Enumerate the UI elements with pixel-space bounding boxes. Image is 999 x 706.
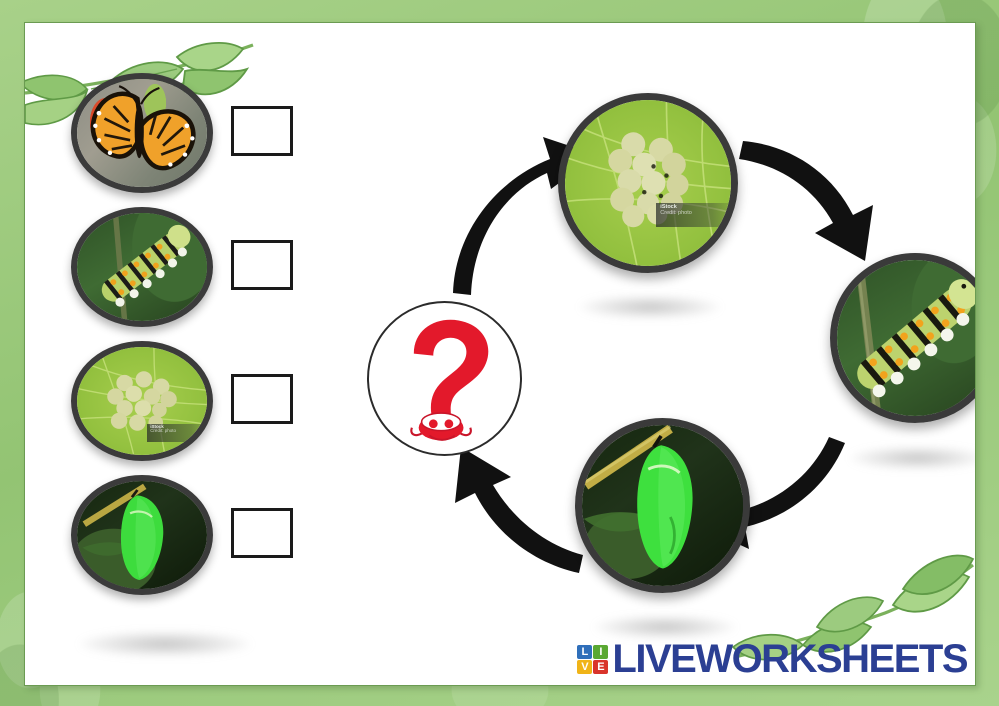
live-cell-v: V: [577, 660, 592, 674]
monarch-butterfly-photo: [71, 73, 213, 193]
chrysalis-shadow: [595, 615, 735, 639]
list-item: iStock Credit: photo: [53, 341, 343, 475]
left-column-shadow: [80, 631, 250, 657]
cycle-stage-caterpillar: [830, 253, 976, 423]
cycle-stage-eggs: iStock Credit: photo: [558, 93, 738, 273]
list-item: [53, 73, 343, 207]
answer-input-caterpillar[interactable]: [231, 240, 293, 290]
liveworksheets-wordmark: LIVEWORKSHEETS: [612, 639, 967, 679]
worksheet-sheet: iStock Credit: photo: [24, 22, 976, 686]
arrow-to-caterpillar-icon: [739, 141, 873, 261]
answer-input-butterfly[interactable]: [231, 106, 293, 156]
image-watermark: iStock Credit: photo: [147, 424, 210, 442]
live-cell-l: L: [577, 645, 592, 659]
image-watermark: iStock Credit: photo: [656, 203, 737, 227]
butterfly-life-cycle-diagram: iStock Credit: photo: [345, 63, 975, 633]
green-chrysalis-photo: [71, 475, 213, 595]
list-item: [53, 475, 343, 609]
liveworksheets-logo: L I V E LIVEWORKSHEETS: [577, 639, 967, 679]
live-logo-grid: L I V E: [577, 645, 608, 674]
question-mark-circle: [367, 301, 522, 456]
butterfly-eggs-on-leaf-photo: iStock Credit: photo: [71, 341, 213, 461]
cycle-stage-chrysalis: [575, 418, 750, 593]
answer-input-eggs[interactable]: [231, 374, 293, 424]
worksheet-page: iStock Credit: photo: [0, 0, 999, 706]
list-item: [53, 207, 343, 341]
live-cell-e: E: [593, 660, 608, 674]
eggs-shadow: [580, 295, 720, 319]
answer-options-column: iStock Credit: photo: [53, 73, 343, 609]
answer-input-chrysalis[interactable]: [231, 508, 293, 558]
caterpillar-shadow: [850, 446, 976, 470]
swallowtail-caterpillar-photo: [71, 207, 213, 327]
arrow-to-center-icon: [455, 447, 583, 573]
live-cell-i: I: [593, 645, 608, 659]
